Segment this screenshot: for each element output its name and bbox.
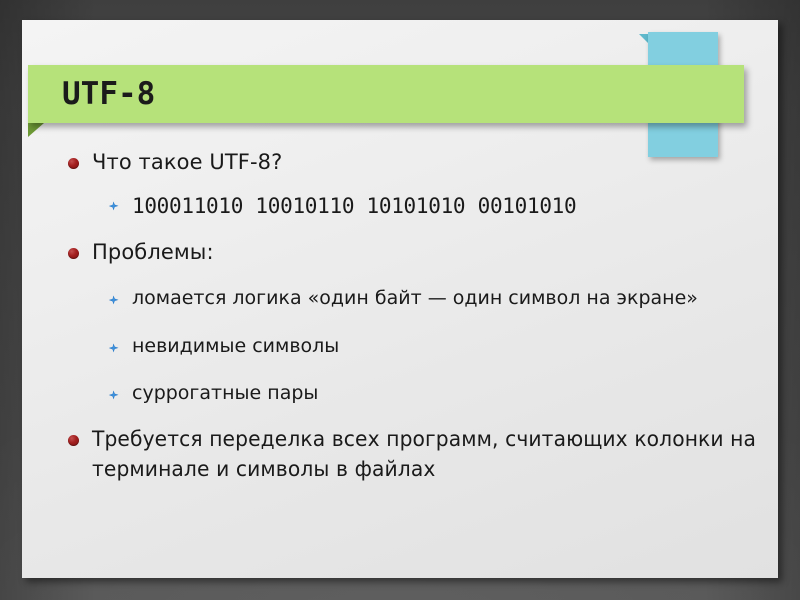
list-item: 100011010 10010110 10101010 00101010: [44, 192, 796, 220]
list-item-label: Проблемы:: [92, 238, 214, 266]
list-item: Что такое UTF-8?: [44, 148, 796, 176]
page-title: UTF-8: [28, 79, 155, 110]
list-item: невидимые символы: [44, 334, 796, 359]
list-item-label: 100011010 10010110 10101010 00101010: [132, 192, 576, 220]
list-item-label: невидимые символы: [132, 334, 339, 359]
list-item-label: ломается логика «один байт — один символ…: [132, 286, 698, 311]
list-item: Требуется переделка всех программ, счита…: [44, 425, 796, 485]
blue-star-bullet-icon: [108, 192, 132, 212]
red-sphere-bullet-icon: [68, 148, 92, 169]
list-item-label: Что такое UTF-8?: [92, 148, 282, 176]
list-item: суррогатные пары: [44, 381, 796, 406]
list-item: ломается логика «один байт — один символ…: [44, 286, 796, 311]
title-banner-fold-icon: [28, 123, 44, 137]
slide-content: Что такое UTF-8? 100011010 10010110 1010…: [44, 148, 796, 490]
blue-accent-fold-icon: [639, 34, 648, 43]
list-item: Проблемы:: [44, 238, 796, 266]
red-sphere-bullet-icon: [68, 425, 92, 446]
blue-star-bullet-icon: [108, 381, 132, 401]
title-banner: UTF-8: [28, 65, 744, 123]
slide-surface: UTF-8 Что такое UTF-8? 100011010: [22, 20, 778, 578]
blue-star-bullet-icon: [108, 286, 132, 306]
red-sphere-bullet-icon: [68, 238, 92, 259]
list-item-label: суррогатные пары: [132, 381, 318, 406]
presentation-backdrop: UTF-8 Что такое UTF-8? 100011010: [0, 0, 800, 600]
list-item-label: Требуется переделка всех программ, счита…: [92, 425, 768, 485]
blue-star-bullet-icon: [108, 334, 132, 354]
